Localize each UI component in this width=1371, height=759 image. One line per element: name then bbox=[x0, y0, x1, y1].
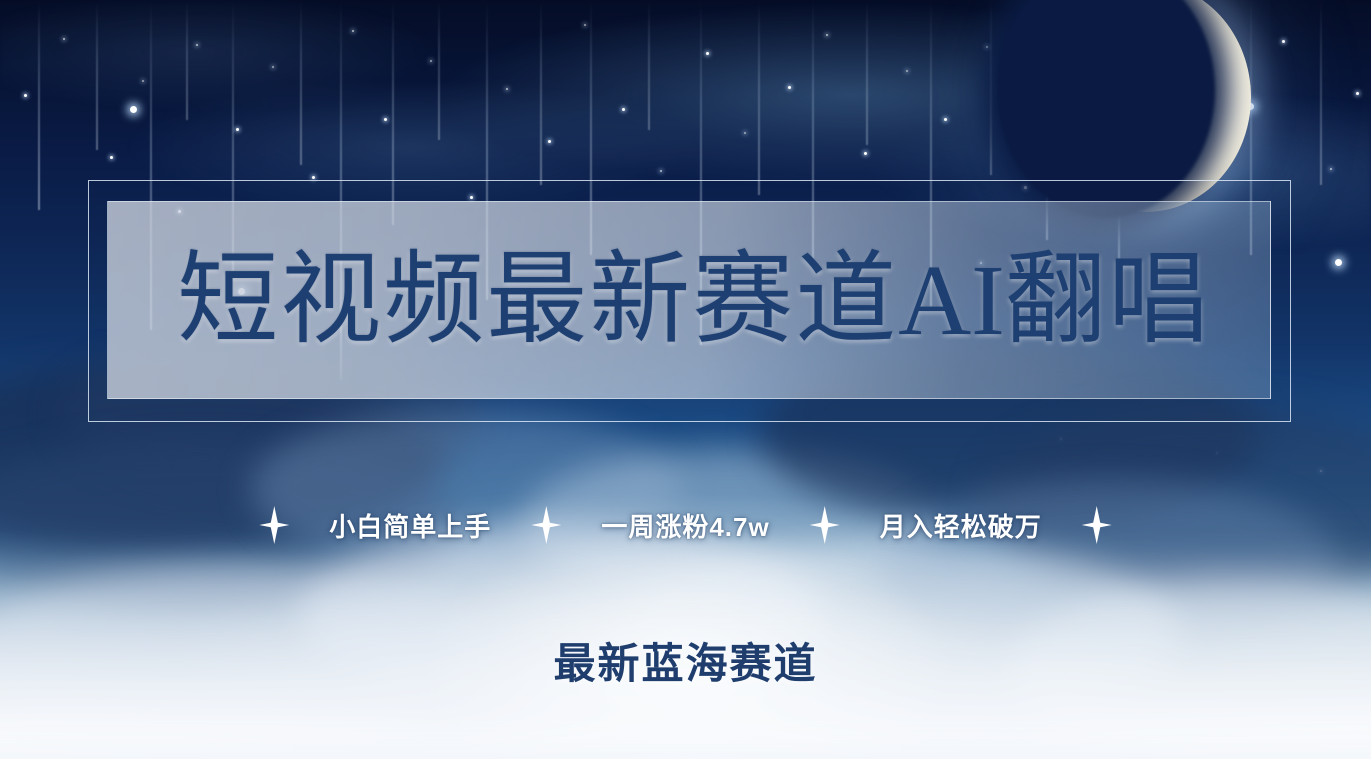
sparkle-icon bbox=[531, 506, 561, 544]
feature-item-2: 月入轻松破万 bbox=[880, 507, 1042, 544]
title-tail: 翻唱 bbox=[1005, 250, 1211, 351]
feature-list: 小白简单上手 一周涨粉4.7w 月入轻松破万 bbox=[0, 498, 1371, 552]
sparkle-icon bbox=[259, 506, 289, 544]
feature-item-1: 一周涨粉4.7w bbox=[601, 507, 769, 544]
crescent-moon-icon bbox=[1041, 0, 1251, 212]
sparkle-icon bbox=[810, 506, 840, 544]
feature-item-0: 小白简单上手 bbox=[329, 507, 491, 544]
tagline: 最新蓝海赛道 bbox=[0, 630, 1371, 691]
page-title: 短视频最新赛道AI翻唱 bbox=[107, 201, 1271, 399]
sparkle-icon bbox=[1082, 506, 1112, 544]
star-flare-icon bbox=[96, 72, 170, 146]
poster-canvas: 短视频最新赛道AI翻唱 小白简单上手 一周涨粉4.7w 月入轻松破万 最新蓝海赛… bbox=[0, 0, 1371, 759]
title-lead: 短视频最新赛道 bbox=[177, 250, 898, 351]
title-ai: AI bbox=[898, 250, 1005, 351]
star-flare-icon bbox=[1288, 212, 1371, 312]
